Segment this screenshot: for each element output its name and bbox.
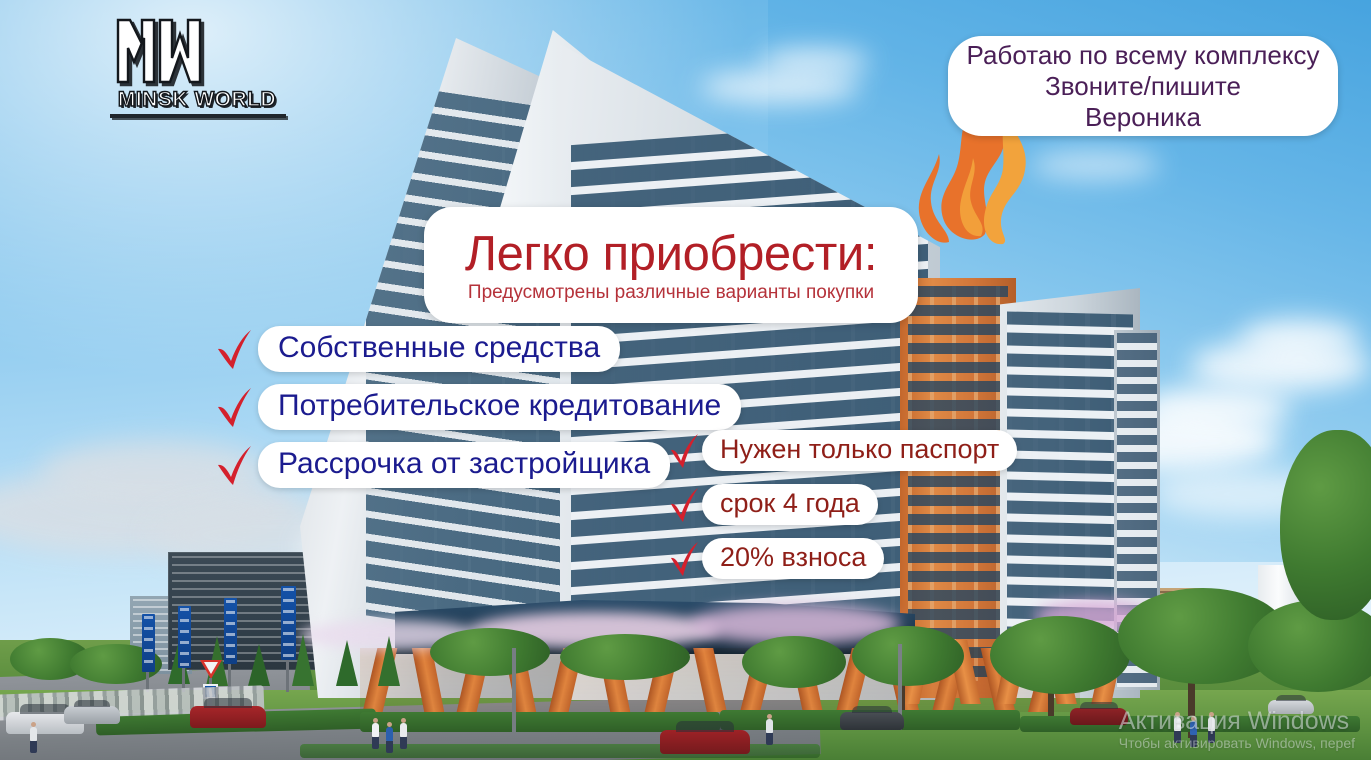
payment-option-label: Рассрочка от застройщика [258,442,670,488]
installment-term-label: Нужен только паспорт [702,430,1017,471]
checkmark-icon [668,486,700,524]
logo-wordmark: MINSK WORLD [92,88,302,112]
installment-term-label: срок 4 года [702,484,878,525]
checkmark-icon [668,540,700,578]
list-item[interactable]: Потребительское кредитование [214,384,741,430]
installment-terms-list: Нужен только паспорт срок 4 года 20% взн… [668,430,1017,592]
checkmark-icon [214,385,254,429]
payment-option-label: Потребительское кредитование [258,384,741,430]
contact-line-3: Вероника [1085,102,1201,133]
mw-monogram-icon [114,14,210,84]
list-item[interactable]: Рассрочка от застройщика [214,442,741,488]
contact-line-2: Звоните/пишите [1045,71,1241,102]
logo-underline [110,114,286,118]
payment-options-list: Собственные средства Потребительское кре… [214,326,741,500]
contact-callout[interactable]: Работаю по всему комплексу Звоните/пишит… [948,36,1338,136]
minsk-world-logo: MINSK WORLD [92,14,302,118]
payment-option-label: Собственные средства [258,326,620,372]
headline-callout: Легко приобрести: Предусмотрены различны… [424,207,918,323]
list-item[interactable]: Собственные средства [214,326,741,372]
checkmark-icon [214,327,254,371]
installment-term-label: 20% взноса [702,538,884,579]
promo-poster: MINSK WORLD Работаю по всему комплексу З… [0,0,1371,760]
contact-line-1: Работаю по всему комплексу [966,40,1319,71]
list-item[interactable]: срок 4 года [668,484,1017,525]
checkmark-icon [668,432,700,470]
list-item[interactable]: Нужен только паспорт [668,430,1017,471]
page-title: Легко приобрести: [465,227,877,281]
checkmark-icon [214,443,254,487]
page-subtitle: Предусмотрены различные варианты покупки [468,282,874,304]
list-item[interactable]: 20% взноса [668,538,1017,579]
